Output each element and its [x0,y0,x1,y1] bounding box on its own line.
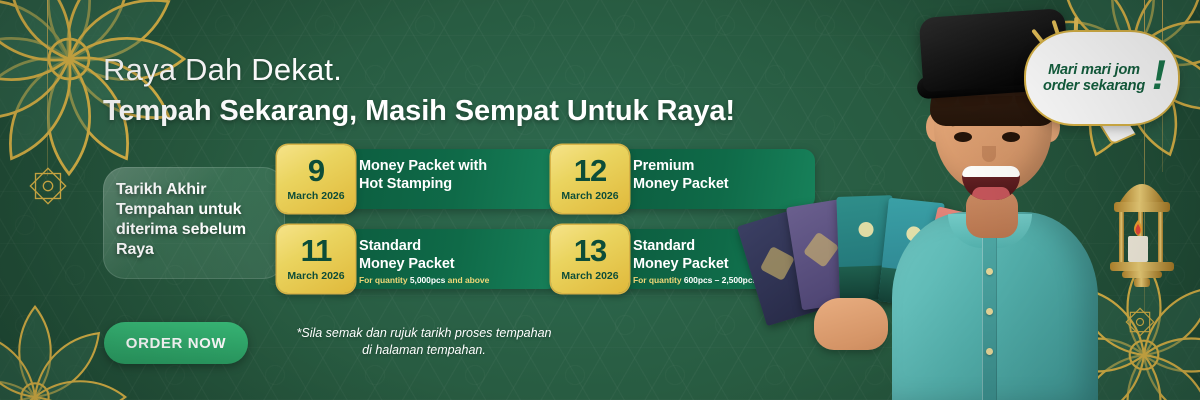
tongue [972,187,1010,200]
headline-line-2: Tempah Sekarang, Masih Sempat Untuk Raya… [103,94,863,129]
shirt-button [986,308,993,315]
deadline-label-panel: Tarikh Akhir Tempahan untuk diterima seb… [103,167,285,279]
deadline-card-day: 11 [301,236,332,266]
headline-line-1: Raya Dah Dekat. [103,52,863,89]
quantity-prefix: For quantity [633,275,684,285]
deadline-card-day: 13 [574,236,606,266]
star-ornament-icon [22,160,74,217]
order-now-button[interactable]: ORDER NOW [104,322,248,364]
deadline-card-title-line2: Money Packet [633,176,803,194]
speech-bubble: Mari mari jom order sekarang ! [1020,24,1188,140]
eye [954,132,972,142]
deadline-card-month: March 2026 [287,270,344,282]
deadline-card-date: 11 March 2026 [277,225,355,293]
deadline-card-title-line1: Premium [633,158,803,176]
star-ornament-icon [1118,300,1162,349]
hand [814,298,888,350]
raya-promo-banner: Raya Dah Dekat. Tempah Sekarang, Masih S… [0,0,1200,400]
quantity-suffix: and above [445,275,489,285]
deadline-card-month: March 2026 [287,190,344,202]
deadline-label-text: Tarikh Akhir Tempahan untuk diterima seb… [116,180,271,261]
deadline-cards-column-left: Money Packet with Hot Stamping 9 March 2… [277,145,517,305]
shirt-placket [982,236,997,400]
deadline-card-month: March 2026 [561,190,618,202]
quantity-prefix: For quantity [359,275,410,285]
deadline-card-title-line1: Standard [359,238,547,256]
teeth [962,166,1020,177]
deadline-card-month: March 2026 [561,270,618,282]
lantern-icon [1106,168,1178,299]
shirt-button [986,348,993,355]
headline-group: Raya Dah Dekat. Tempah Sekarang, Masih S… [103,52,863,128]
order-now-label: ORDER NOW [126,335,226,352]
deadline-card-date: 13 March 2026 [551,225,629,293]
nose [982,146,996,162]
deadline-card[interactable]: Premium Money Packet 12 March 2026 [551,145,791,213]
ornament-hanging-line [47,0,48,176]
deadline-card-title-line2: Hot Stamping [359,176,547,194]
deadline-card-day: 12 [574,156,606,186]
quantity-value: 600pcs – 2,500pcs [684,275,757,285]
deadline-card[interactable]: Standard Money Packet For quantity 5,000… [277,225,517,293]
speech-bubble-exclamation: ! [1152,54,1166,96]
footnote-line-1: *Sila semak dan rujuk tarikh proses temp… [264,325,584,342]
deadline-card-date: 9 March 2026 [277,145,355,213]
eye [1002,132,1020,142]
deadline-card-title-line1: Money Packet with [359,158,547,176]
deadline-card-date: 12 March 2026 [551,145,629,213]
deadline-card-day: 9 [308,156,324,186]
deadline-card[interactable]: Money Packet with Hot Stamping 9 March 2… [277,145,517,213]
footnote: *Sila semak dan rujuk tarikh proses temp… [264,325,584,360]
footnote-line-2: di halaman tempahan. [264,342,584,359]
deadline-card-description: Money Packet with Hot Stamping [329,149,559,209]
shirt-button [986,268,993,275]
quantity-value: 5,000pcs [410,275,446,285]
deadline-card-quantity: For quantity 5,000pcs and above [359,275,547,285]
deadline-card-description: Standard Money Packet For quantity 5,000… [329,229,559,289]
deadline-card-title-line2: Money Packet [359,256,547,274]
